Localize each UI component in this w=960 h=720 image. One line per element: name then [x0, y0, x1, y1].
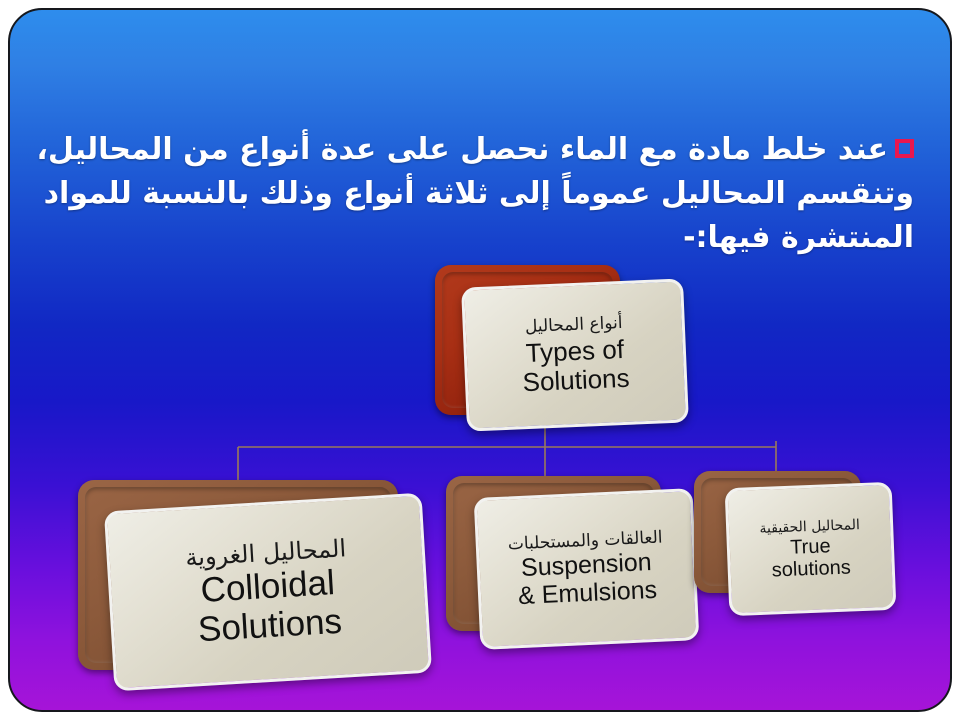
node-arabic-label: المحاليل الحقيقية	[759, 517, 860, 537]
heading-paragraph: عند خلط مادة مع الماء نحصل على عدة أنواع…	[24, 128, 914, 260]
node-face-card: أنواع المحاليل Types of Solutions	[461, 278, 689, 431]
heading-text: عند خلط مادة مع الماء نحصل على عدة أنواع…	[36, 132, 914, 255]
slide: عند خلط مادة مع الماء نحصل على عدة أنواع…	[0, 0, 960, 720]
diagram-node-suspension-emulsions[interactable]: العالقات والمستحلبات Suspension & Emulsi…	[446, 476, 661, 631]
node-english-label-line2: Solutions	[522, 364, 630, 397]
slide-frame: عند خلط مادة مع الماء نحصل على عدة أنواع…	[8, 8, 952, 712]
node-english-label-line2: Solutions	[197, 602, 343, 649]
diagram-node-colloidal-solutions[interactable]: المحاليل الغروية Colloidal Solutions	[78, 480, 398, 670]
node-english-label-line1: True	[790, 535, 831, 559]
node-english-label-line2: & Emulsions	[518, 576, 658, 610]
node-english-label-line2: solutions	[771, 556, 851, 581]
node-face-card: المحاليل الحقيقية True solutions	[725, 482, 897, 616]
diagram-node-true-solutions[interactable]: المحاليل الحقيقية True solutions	[694, 471, 861, 593]
node-arabic-label: أنواع المحاليل	[525, 313, 623, 337]
red-square-bullet-icon	[895, 139, 914, 158]
diagram-node-types-of-solutions[interactable]: أنواع المحاليل Types of Solutions	[435, 265, 620, 415]
node-face-card: العالقات والمستحلبات Suspension & Emulsi…	[474, 488, 700, 650]
node-face-card: المحاليل الغروية Colloidal Solutions	[104, 493, 432, 692]
